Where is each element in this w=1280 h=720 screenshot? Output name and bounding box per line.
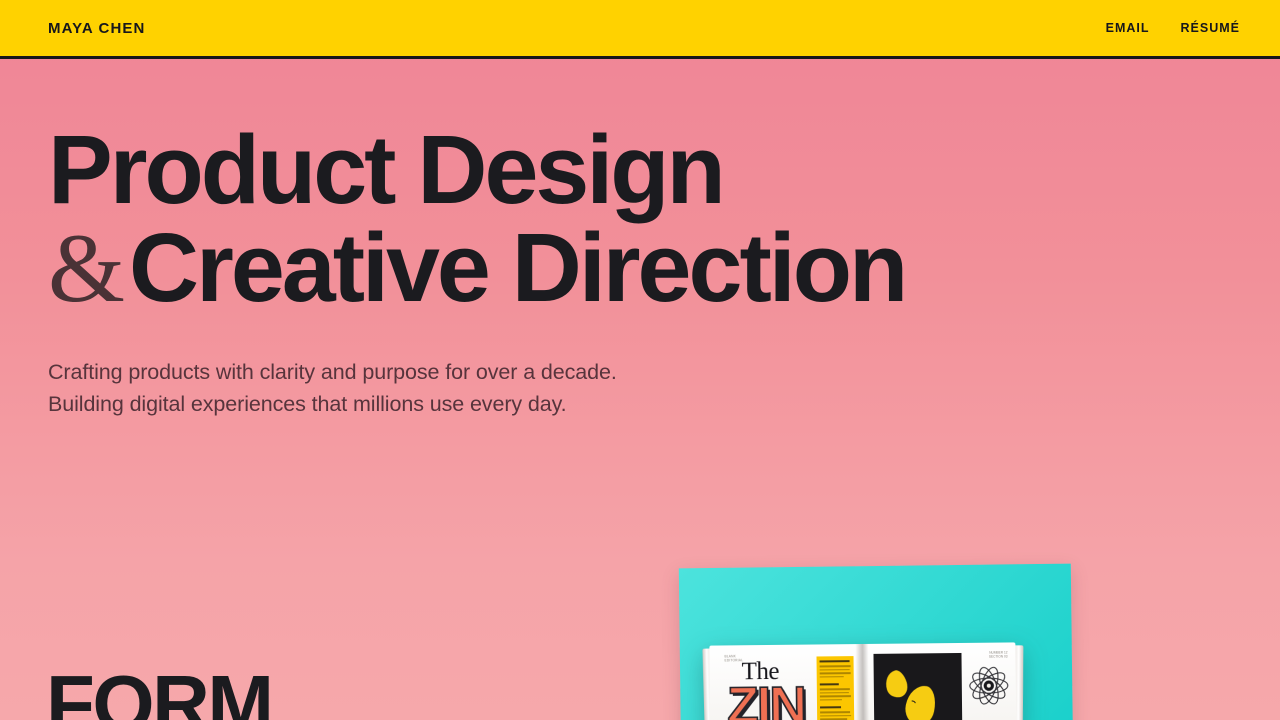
headline-line-2: Creative Direction <box>129 213 905 322</box>
magazine-black-panel <box>873 653 962 720</box>
magazine-kicker-text: BLANKEDITORIAL <box>724 654 743 662</box>
magazine-right-page: NUMBER 12SECTION 03 <box>861 642 1016 720</box>
magazine-folio-text: NUMBER 12SECTION 03 <box>989 650 1008 659</box>
hero-subtitle: Crafting products with clarity and purpo… <box>48 356 1280 420</box>
pear-shape-large <box>902 683 938 720</box>
magazine-title-zine: ZIN <box>727 680 805 720</box>
nav-link-resume[interactable]: RÉSUMÉ <box>1181 22 1240 35</box>
ampersand-glyph: & <box>48 214 129 323</box>
page-title: Product Design <box>48 121 1280 219</box>
site-brand-name[interactable]: MAYA CHEN <box>48 21 145 36</box>
pear-shape-small <box>882 668 910 700</box>
page-title-second-line: &Creative Direction <box>48 219 1280 318</box>
headline-line-1: Product Design <box>48 115 723 224</box>
magazine-yellow-sidebar <box>816 656 854 720</box>
primary-nav: EMAIL RÉSUMÉ <box>1106 22 1240 35</box>
magazine-left-page: BLANKEDITORIAL The ZIN <box>709 644 862 720</box>
open-magazine: BLANKEDITORIAL The ZIN <box>709 642 1016 720</box>
top-navigation-bar: MAYA CHEN EMAIL RÉSUMÉ <box>0 0 1280 59</box>
hero-section: Product Design &Creative Direction Craft… <box>0 59 1280 420</box>
nav-link-email[interactable]: EMAIL <box>1106 22 1150 35</box>
subtitle-line-1: Crafting products with clarity and purpo… <box>48 356 1280 388</box>
atom-diagram-icon <box>968 664 1010 706</box>
section-heading-form: FORM <box>46 664 272 720</box>
magazine-spine-gutter <box>855 644 869 720</box>
hero-photo: BLANKEDITORIAL The ZIN <box>640 540 1120 720</box>
subtitle-line-2: Building digital experiences that millio… <box>48 388 1280 420</box>
